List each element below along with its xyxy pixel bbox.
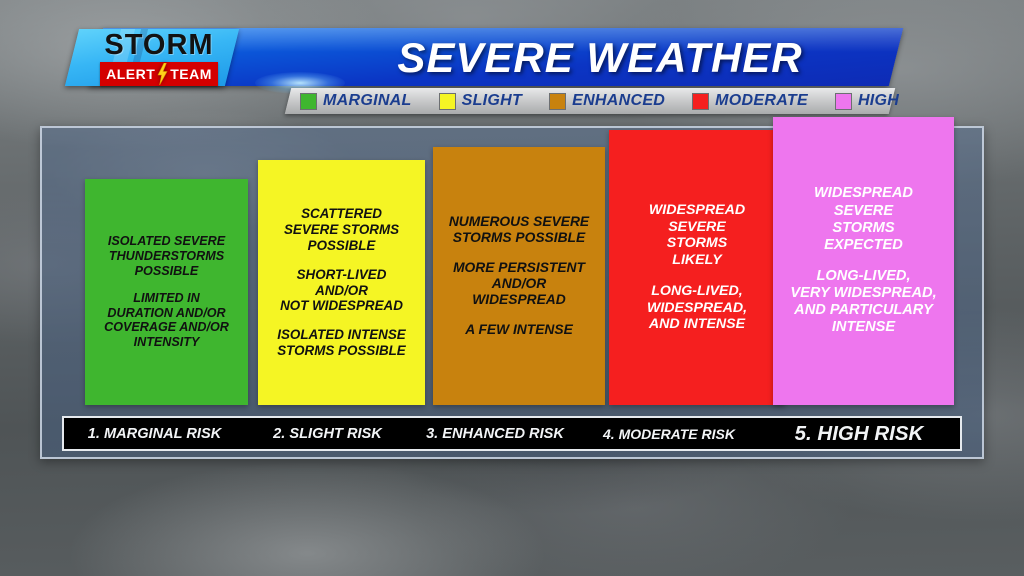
risk-columns-container: ISOLATED SEVERETHUNDERSTORMSPOSSIBLELIMI…: [40, 126, 984, 459]
risk-description-paragraph: A FEW INTENSE: [465, 322, 573, 338]
header-banner: STORM ALERT TEAM SEVERE WEATHER MARGINAL…: [0, 0, 1024, 125]
legend-item-high[interactable]: HIGH: [835, 92, 899, 110]
legend-swatch-moderate: [692, 93, 709, 110]
legend-item-enhanced[interactable]: ENHANCED: [549, 92, 665, 110]
risk-label-enhanced[interactable]: 3. ENHANCED RISK: [410, 418, 580, 449]
logo-team-text: TEAM: [170, 66, 212, 82]
legend-item-marginal[interactable]: MARGINAL: [300, 92, 412, 110]
risk-description-paragraph: SCATTEREDSEVERE STORMSPOSSIBLE: [284, 206, 399, 253]
risk-description-paragraph: NUMEROUS SEVERESTORMS POSSIBLE: [449, 214, 589, 246]
risk-legend: MARGINALSLIGHTENHANCEDMODERATEHIGH: [300, 88, 899, 114]
risk-column-marginal[interactable]: ISOLATED SEVERETHUNDERSTORMSPOSSIBLELIMI…: [85, 179, 248, 405]
legend-swatch-marginal: [300, 93, 317, 110]
risk-description-paragraph: MORE PERSISTENTAND/ORWIDESPREAD: [453, 260, 585, 308]
risk-column-enhanced[interactable]: NUMEROUS SEVERESTORMS POSSIBLEMORE PERSI…: [433, 147, 605, 405]
legend-label-marginal: MARGINAL: [323, 92, 412, 110]
risk-description-paragraph: LONG-LIVED,VERY WIDESPREAD,AND PARTICULA…: [790, 268, 936, 336]
risk-label-bar: 1. MARGINAL RISK2. SLIGHT RISK3. ENHANCE…: [62, 416, 962, 451]
legend-label-high: HIGH: [858, 92, 899, 110]
page-title: SEVERE WEATHER: [340, 30, 860, 86]
risk-description-paragraph: ISOLATED SEVERETHUNDERSTORMSPOSSIBLE: [108, 234, 225, 278]
risk-description-paragraph: WIDESPREADSEVERESTORMSLIKELY: [649, 202, 745, 268]
legend-swatch-slight: [439, 93, 456, 110]
legend-swatch-enhanced: [549, 93, 566, 110]
logo-brand-text: STORM: [104, 31, 213, 60]
legend-label-slight: SLIGHT: [462, 92, 522, 110]
legend-swatch-high: [835, 93, 852, 110]
risk-description-paragraph: WIDESPREADSEVERESTORMSEXPECTED: [814, 185, 913, 253]
risk-description-paragraph: LIMITED INDURATION AND/ORCOVERAGE AND/OR…: [104, 291, 229, 350]
risk-description-paragraph: SHORT-LIVEDAND/ORNOT WIDESPREAD: [280, 267, 403, 314]
legend-label-moderate: MODERATE: [715, 92, 808, 110]
risk-label-moderate[interactable]: 4. MODERATE RISK: [580, 418, 758, 449]
legend-label-enhanced: ENHANCED: [572, 92, 665, 110]
legend-item-moderate[interactable]: MODERATE: [692, 92, 808, 110]
risk-column-moderate[interactable]: WIDESPREADSEVERESTORMSLIKELYLONG-LIVED,W…: [609, 130, 785, 405]
risk-description-paragraph: ISOLATED INTENSESTORMS POSSIBLE: [277, 327, 405, 358]
risk-label-marginal[interactable]: 1. MARGINAL RISK: [64, 418, 245, 449]
logo-alert-team-bar: ALERT TEAM: [100, 62, 218, 86]
risk-column-slight[interactable]: SCATTEREDSEVERE STORMSPOSSIBLESHORT-LIVE…: [258, 160, 425, 405]
logo-alert-text: ALERT: [106, 66, 155, 82]
risk-description-paragraph: LONG-LIVED,WIDESPREAD,AND INTENSE: [647, 283, 747, 333]
risk-column-high[interactable]: WIDESPREADSEVERESTORMSEXPECTEDLONG-LIVED…: [773, 117, 954, 405]
risk-label-slight[interactable]: 2. SLIGHT RISK: [245, 418, 410, 449]
station-logo[interactable]: STORM ALERT TEAM: [88, 32, 230, 84]
lightning-bolt-icon: [157, 63, 168, 85]
risk-label-high[interactable]: 5. HIGH RISK: [758, 418, 960, 449]
legend-item-slight[interactable]: SLIGHT: [439, 92, 522, 110]
